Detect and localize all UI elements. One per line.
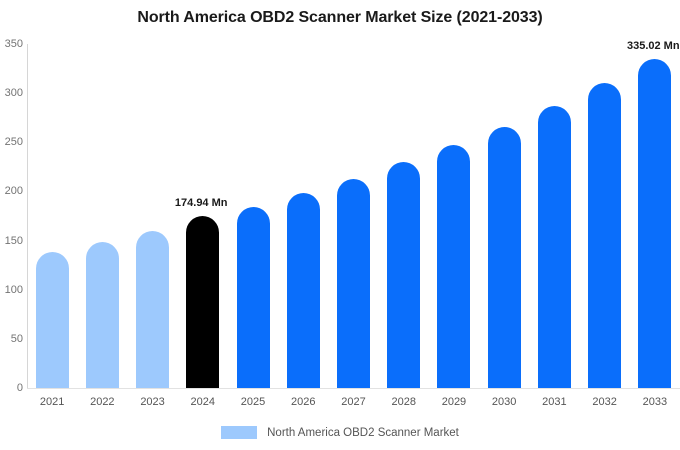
x-axis-tick-label-2025: 2025 [228,396,278,408]
y-axis-tick-labels: 050100150200250300350 [0,0,23,450]
x-axis-tick-label-2026: 2026 [278,396,328,408]
x-axis-tick-label-2027: 2027 [328,396,378,408]
bar-2033[interactable] [638,59,671,388]
x-axis-tick-labels: 2021202220232024202520262027202820292030… [27,396,680,412]
bar-2025[interactable] [237,207,270,388]
bar-2027[interactable] [337,179,370,388]
y-axis-tick-label: 50 [0,334,23,345]
legend-item[interactable]: North America OBD2 Scanner Market [221,426,459,439]
x-axis-tick-label-2024: 2024 [178,396,228,408]
x-axis-tick-label-2021: 2021 [27,396,77,408]
y-axis-tick-label: 250 [0,137,23,148]
bars-layer: 174.94 Mn335.02 Mn [27,44,680,388]
x-axis-tick-label-2029: 2029 [429,396,479,408]
bar-2029[interactable] [437,145,470,388]
x-axis-tick-label-2032: 2032 [580,396,630,408]
bar-value-label-2033: 335.02 Mn [627,41,680,52]
chart-legend: North America OBD2 Scanner Market [0,426,680,439]
chart-container: North America OBD2 Scanner Market Size (… [0,0,680,450]
legend-color-swatch [221,426,257,439]
chart-title: North America OBD2 Scanner Market Size (… [0,9,680,27]
y-axis-tick-label: 350 [0,39,23,50]
legend-item-label: North America OBD2 Scanner Market [267,427,459,439]
y-axis-tick-label: 150 [0,236,23,247]
y-axis-tick-label: 0 [0,383,23,394]
x-axis-tick-label-2031: 2031 [529,396,579,408]
y-axis-tick-label: 300 [0,88,23,99]
x-axis-tick-label-2030: 2030 [479,396,529,408]
x-axis-tick-label-2033: 2033 [630,396,680,408]
y-axis-tick-label: 200 [0,186,23,197]
bar-2032[interactable] [588,83,621,388]
bar-value-label-2024: 174.94 Mn [175,198,228,209]
bar-2031[interactable] [538,106,571,388]
bar-2024[interactable] [186,216,219,388]
y-axis-tick-label: 100 [0,285,23,296]
x-axis-tick-label-2022: 2022 [77,396,127,408]
x-axis-tick-label-2023: 2023 [127,396,177,408]
bar-2030[interactable] [488,127,521,388]
bar-2022[interactable] [86,242,119,388]
bar-2026[interactable] [287,193,320,388]
bar-2028[interactable] [387,162,420,388]
x-axis-line [27,388,680,389]
bar-2023[interactable] [136,231,169,388]
bar-2021[interactable] [36,252,69,388]
x-axis-tick-label-2028: 2028 [379,396,429,408]
